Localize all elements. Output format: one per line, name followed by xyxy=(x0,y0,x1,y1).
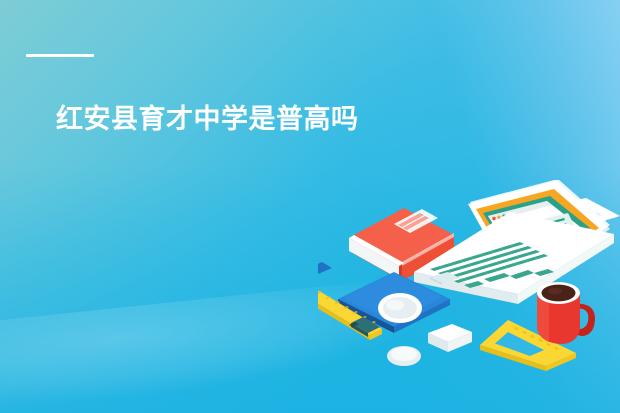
page-title: 红安县育才中学是普高吗 xyxy=(56,104,359,136)
mouse-icon xyxy=(387,346,421,366)
title-accent-rule xyxy=(26,54,94,57)
banner: 红安县育才中学是普高吗 xyxy=(0,0,620,413)
coffee-mug-icon xyxy=(537,282,595,344)
eraser-icon xyxy=(428,324,472,352)
desk-accent-shape xyxy=(318,262,332,279)
education-desk-illustration xyxy=(318,180,620,413)
